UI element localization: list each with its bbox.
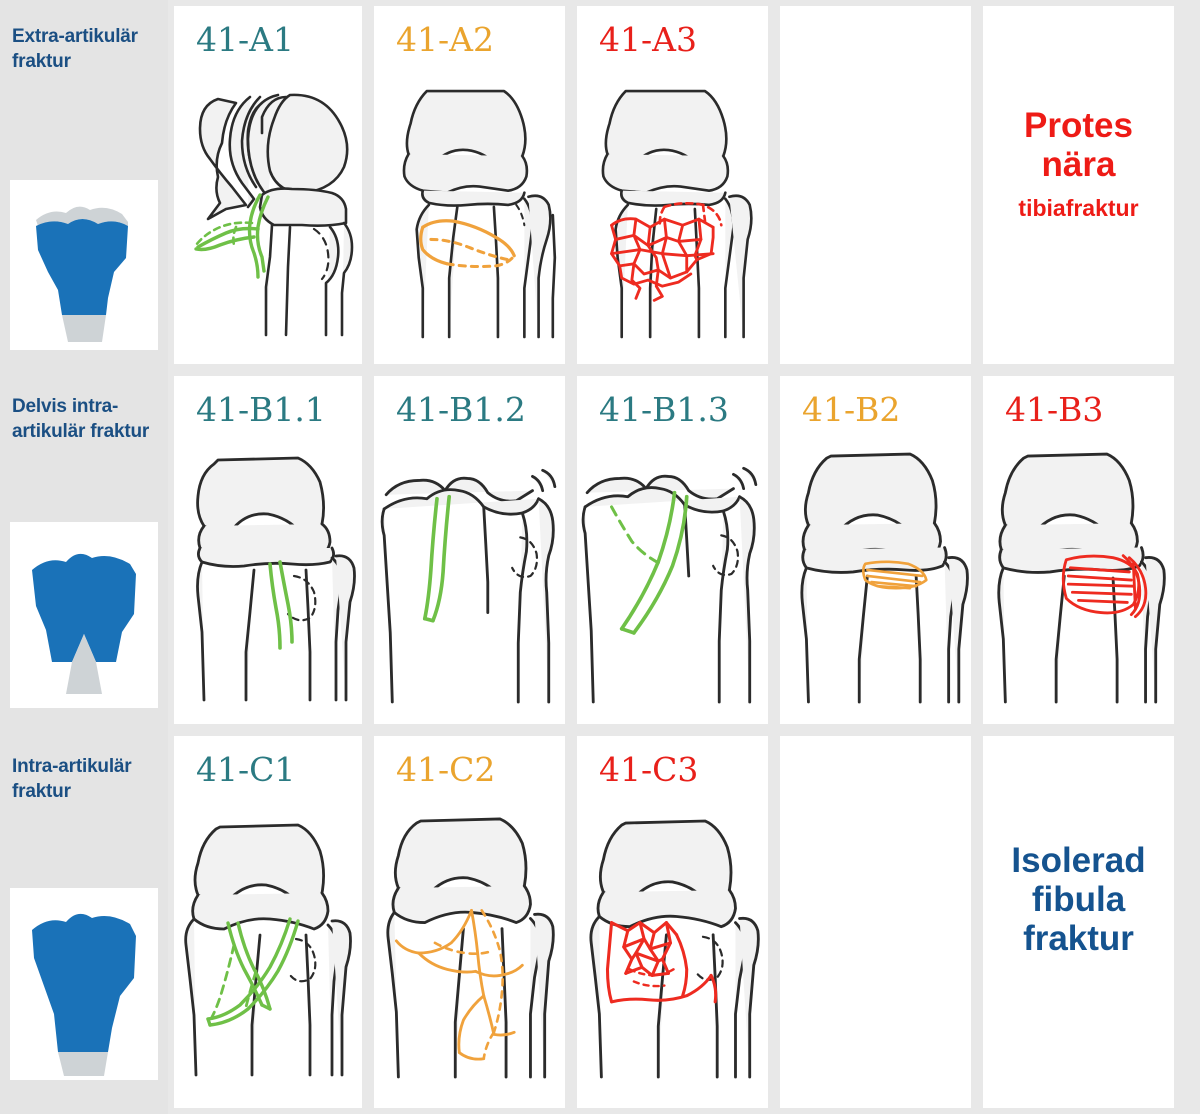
cell-note-protes-nara: Protes nära tibiafraktur: [983, 6, 1174, 364]
figure-knee-articular-multifragmentary: [577, 796, 768, 1102]
cell-41-B2[interactable]: 41-B2: [780, 376, 971, 724]
figure-knee-lateral-avulsion: [174, 66, 362, 358]
note-line-1: Protes: [991, 106, 1166, 145]
fracture-classification-grid: Extra-artikulär fraktur 41-A1: [0, 0, 1200, 1114]
code-41-A2: 41-A2: [396, 20, 494, 59]
figure-knee-articular-simple: [174, 796, 362, 1102]
figure-knee-depression: [780, 436, 971, 718]
figure-knee-split-vertical: [374, 436, 565, 718]
cell-row-a-empty: [780, 6, 971, 364]
code-41-A1: 41-A1: [196, 20, 294, 59]
figure-knee-ap-multifragmentary: [577, 66, 768, 358]
tibia-extraarticular-icon: [10, 180, 158, 350]
code-41-B2: 41-B2: [802, 390, 900, 429]
code-41-C2: 41-C2: [396, 750, 495, 789]
cell-41-C3[interactable]: 41-C3: [577, 736, 768, 1108]
cell-41-B1-1[interactable]: 41-B1.1: [174, 376, 362, 724]
cell-41-A2[interactable]: 41-A2: [374, 6, 565, 364]
cell-41-A3[interactable]: 41-A3: [577, 6, 768, 364]
cell-41-B1-2[interactable]: 41-B1.2: [374, 376, 565, 724]
code-41-B3: 41-B3: [1005, 390, 1103, 429]
cell-41-B3[interactable]: 41-B3: [983, 376, 1174, 724]
row-label-extraarticular: Extra-artikulär fraktur: [0, 0, 168, 370]
row-label-text-a: Extra-artikulär fraktur: [12, 24, 164, 75]
figure-knee-split-depression: [983, 436, 1174, 718]
note-protes-nara: Protes nära tibiafraktur: [991, 106, 1166, 222]
code-41-B1-1: 41-B1.1: [196, 390, 326, 429]
code-41-C1: 41-C1: [196, 750, 295, 789]
row-label-partial-articular: Delvis intra-artikulär fraktur: [0, 370, 168, 730]
cell-41-B1-3[interactable]: 41-B1.3: [577, 376, 768, 724]
code-41-C3: 41-C3: [599, 750, 698, 789]
cell-41-A1[interactable]: 41-A1: [174, 6, 362, 364]
row-label-text-b: Delvis intra-artikulär fraktur: [12, 394, 164, 445]
figure-knee-articular-wedge: [374, 796, 565, 1102]
note-line-1: Isolerad: [991, 841, 1166, 880]
row-label-text-c: Intra-artikulär fraktur: [12, 754, 164, 805]
tibia-partial-articular-icon: [10, 522, 158, 708]
code-41-A3: 41-A3: [599, 20, 697, 59]
note-line-2: nära: [991, 145, 1166, 184]
figure-knee-split-lateral: [174, 436, 362, 718]
note-line-2: fibula: [991, 880, 1166, 919]
cell-note-isolerad-fibula: Isolerad fibula fraktur: [983, 736, 1174, 1108]
note-line-3: fraktur: [991, 919, 1166, 958]
code-41-B1-2: 41-B1.2: [396, 390, 526, 429]
cell-row-c-empty: [780, 736, 971, 1108]
note-isolerad-fibula: Isolerad fibula fraktur: [991, 841, 1166, 959]
cell-41-C1[interactable]: 41-C1: [174, 736, 362, 1108]
tibia-complete-articular-icon: [10, 888, 158, 1080]
figure-knee-ap-wedge: [374, 66, 565, 358]
row-label-complete-articular: Intra-artikulär fraktur: [0, 730, 168, 1114]
note-line-3: tibiafraktur: [991, 196, 1166, 222]
figure-knee-split-oblique: [577, 436, 768, 718]
cell-41-C2[interactable]: 41-C2: [374, 736, 565, 1108]
code-41-B1-3: 41-B1.3: [599, 390, 729, 429]
